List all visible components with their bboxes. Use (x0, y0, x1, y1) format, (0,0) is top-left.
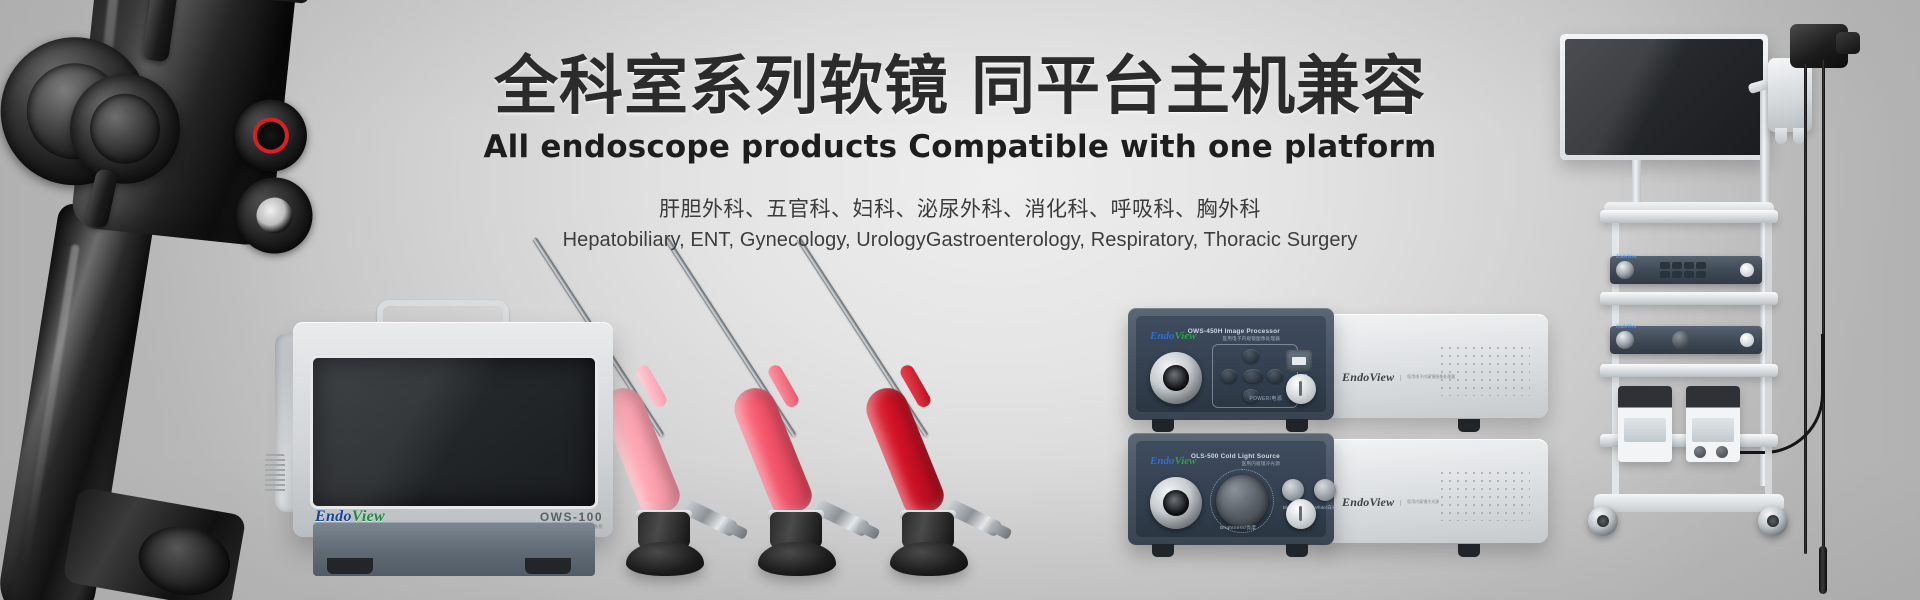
endoscope-workstation-ows100: OWS-100 医用一体式内窥镜摄像系统 EndoView (293, 300, 613, 565)
brand-name-text: EndoView (1342, 495, 1394, 509)
image-processor-unit: EndoView医用电子内窥镜图像处理器 EndoView OWS-450H I… (1128, 308, 1548, 420)
headline-chinese-part2: 同平台主机兼容 (971, 50, 1426, 122)
cart-lightsource-brand: EndoView (1616, 325, 1637, 330)
processor-front-face: EndoView OWS-450H Image Processor 医用电子内窥… (1128, 308, 1334, 420)
brightness-label: Brightness/亮度 (1220, 524, 1256, 531)
processor-power-label: POWER/电源 (1249, 395, 1282, 402)
lightsource-power-button[interactable] (1286, 499, 1316, 529)
keypad-key[interactable] (1684, 271, 1694, 278)
brand-endo-text: Endo (1150, 330, 1174, 342)
brand-view-text: View (352, 508, 385, 525)
processor-model-text: OWS-450H Image Processor (1188, 328, 1280, 336)
workstation-display (313, 358, 595, 506)
cart-insufflator (1618, 386, 1672, 462)
workstation-brand-logo: EndoView (315, 508, 385, 526)
processor-side-model: 医用电子内窥镜图像处理器 (1400, 375, 1455, 381)
workstation-foot (525, 558, 571, 574)
lightsource-model-cn: 医用内窥镜冷光源 (1191, 461, 1280, 467)
cart-shelf (1600, 292, 1778, 305)
cart-lightsource-socket[interactable] (1616, 331, 1634, 349)
lightsource-vent-grille (1438, 469, 1530, 521)
pump-power-button[interactable] (1716, 446, 1728, 458)
headline-english: All endoscope products Compatible with o… (0, 129, 1920, 165)
brand-endo-text: Endo (1150, 455, 1174, 467)
workstation-chassis: OWS-100 医用一体式内窥镜摄像系统 EndoView (293, 322, 613, 537)
device-stack: EndoView医用电子内窥镜图像处理器 EndoView OWS-450H I… (1128, 308, 1548, 578)
hanging-endoscope-tip (1819, 546, 1827, 594)
headline-chinese: 全科室系列软镜同平台主机兼容 (0, 52, 1920, 121)
processor-foot (1458, 419, 1480, 432)
cart-lightsource-power-button[interactable] (1740, 333, 1754, 347)
workstation-vent-grille (265, 454, 285, 494)
cart-caster-wheel (1758, 506, 1788, 536)
blue-light-button[interactable] (1282, 479, 1304, 501)
cart-processor-power-button[interactable] (1740, 263, 1754, 277)
brand-name-text: EndoView (1342, 370, 1394, 384)
cart-processor-keypad[interactable] (1660, 262, 1706, 278)
processor-usb-port[interactable] (1286, 350, 1312, 372)
processor-side-brand: EndoView医用电子内窥镜图像处理器 (1342, 370, 1455, 385)
processor-model-label: OWS-450H Image Processor 医用电子内窥镜图像处理器 (1188, 328, 1280, 342)
processor-front-panel: EndoView OWS-450H Image Processor 医用电子内窥… (1136, 316, 1326, 412)
insufflator-display (1624, 418, 1666, 442)
lightsource-front-panel: EndoView OLS-500 Cold Light Source 医用内窥镜… (1136, 441, 1326, 537)
keypad-key[interactable] (1684, 262, 1694, 269)
cart-base (1594, 494, 1784, 512)
endoscope-stand-base (626, 542, 704, 576)
keypad-key[interactable] (1672, 262, 1682, 269)
endoscope-stand-base (890, 542, 968, 576)
lightsource-foot (1286, 544, 1308, 557)
workstation-foot (327, 558, 373, 574)
processor-up-button[interactable] (1243, 349, 1259, 363)
rigid-endoscope-red (884, 282, 1044, 582)
processor-foot (1152, 419, 1174, 432)
lightsource-front-face: EndoView OLS-500 Cold Light Source 医用内窥镜… (1128, 433, 1334, 545)
cart-cold-light-source: EndoView (1610, 326, 1762, 354)
lightsource-foot (1458, 544, 1480, 557)
cart-processor-brand: EndoView (1616, 255, 1637, 260)
lightsource-fiber-socket[interactable] (1150, 477, 1202, 529)
specialties-english: Hepatobiliary, ENT, Gynecology, UrologyG… (0, 229, 1920, 252)
processor-scope-socket[interactable] (1150, 352, 1202, 404)
processor-foot (1286, 419, 1308, 432)
processor-select-button[interactable] (1243, 369, 1263, 383)
keypad-key[interactable] (1660, 271, 1670, 278)
lightsource-side-body: EndoView医用内窥镜冷光源 (1324, 439, 1548, 543)
brightness-knob[interactable] (1216, 475, 1268, 527)
brand-endo-text: Endo (315, 508, 352, 525)
lightsource-foot (1152, 544, 1174, 557)
specialties-chinese: 肝胆外科、五官科、妇科、泌尿外科、消化科、呼吸科、胸外科 (0, 193, 1920, 223)
headline-chinese-part1: 全科室系列软镜 (494, 50, 949, 122)
keypad-key[interactable] (1696, 271, 1706, 278)
keypad-key[interactable] (1660, 262, 1670, 269)
processor-right-button[interactable] (1267, 369, 1283, 383)
lightsource-side-model: 医用内窥镜冷光源 (1400, 500, 1439, 506)
cart-caster-wheel (1588, 506, 1618, 536)
cold-light-source-unit: EndoView医用内窥镜冷光源 EndoView OLS-500 Cold L… (1128, 433, 1548, 545)
processor-power-button[interactable] (1286, 374, 1316, 404)
processor-side-body: EndoView医用电子内窥镜图像处理器 (1324, 314, 1548, 418)
cart-brightness-knob[interactable] (1672, 331, 1690, 349)
cart-image-processor: EndoView (1610, 256, 1762, 284)
banner-copy-block: 全科室系列软镜同平台主机兼容 All endoscope products Co… (0, 52, 1920, 252)
lightsource-model-text: OLS-500 Cold Light Source (1191, 453, 1280, 461)
lightsource-model-label: OLS-500 Cold Light Source 医用内窥镜冷光源 (1191, 453, 1280, 467)
cart-pump-unit (1686, 386, 1740, 462)
pump-display (1692, 418, 1734, 442)
keypad-key[interactable] (1696, 262, 1706, 269)
keypad-key[interactable] (1672, 271, 1682, 278)
cart-shelf (1600, 364, 1778, 377)
cart-processor-socket[interactable] (1616, 261, 1634, 279)
white-light-button[interactable] (1314, 479, 1336, 501)
lightsource-brand-logo: EndoView (1150, 455, 1196, 467)
lightsource-side-brand: EndoView医用内窥镜冷光源 (1342, 495, 1439, 510)
pump-knob[interactable] (1694, 446, 1706, 458)
processor-model-cn: 医用电子内窥镜图像处理器 (1188, 336, 1280, 342)
product-banner: OWS-100 医用一体式内窥镜摄像系统 EndoView (0, 0, 1920, 600)
processor-left-button[interactable] (1221, 369, 1237, 383)
endoscope-stand-base (758, 542, 836, 576)
